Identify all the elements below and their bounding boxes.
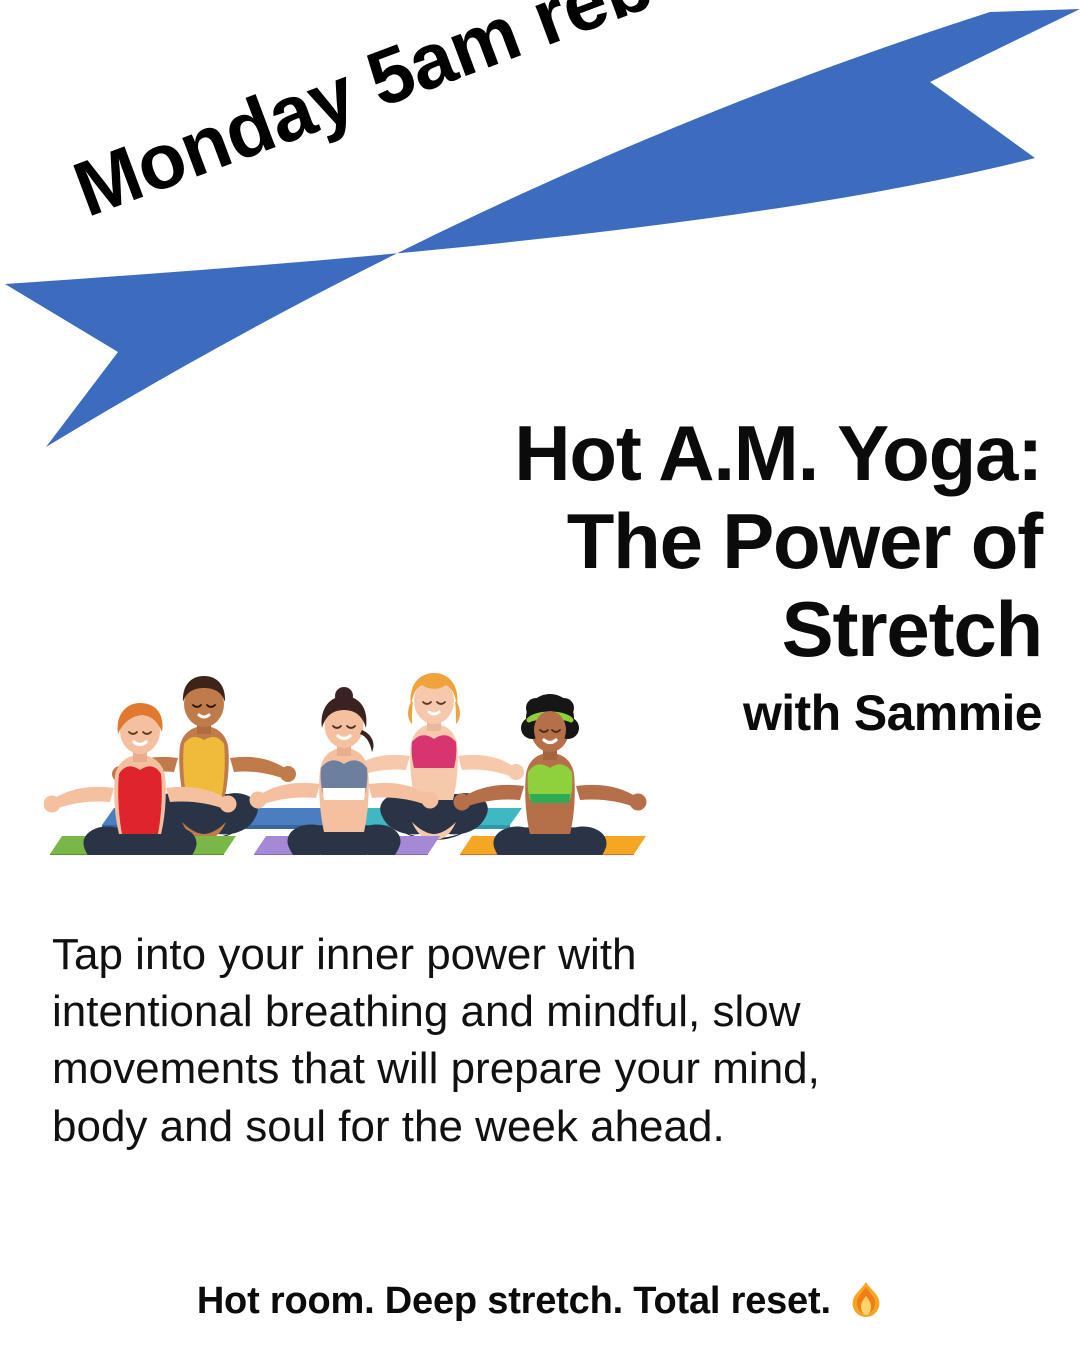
title-line-2: The Power of [382,502,1042,580]
banner-ribbon: Monday 5am reboot! [0,0,1080,470]
description-line: intentional breathing and mindful, slow [52,983,932,1040]
fire-emoji [849,1281,883,1329]
description-line: body and soul for the week ahead. [52,1098,932,1155]
tagline: Hot room. Deep stretch. Total reset. [0,1280,1080,1329]
description-line: Tap into your inner power with [52,926,932,983]
poster-canvas: Monday 5am reboot! Hot A.M. Yoga: The Po… [0,0,1080,1350]
figure-green-top [454,694,647,855]
description-paragraph: Tap into your inner power with intention… [52,926,932,1155]
tagline-text: Hot room. Deep stretch. Total reset. [197,1280,831,1322]
banner-text: Monday 5am reboot! [62,0,937,235]
description-line: movements that will prepare your mind, [52,1040,932,1097]
title-line-1: Hot A.M. Yoga: [382,414,1042,492]
yoga-illustration-svg [44,640,664,855]
banner-ribbon-shape [0,0,1080,470]
yoga-illustration [44,640,664,855]
